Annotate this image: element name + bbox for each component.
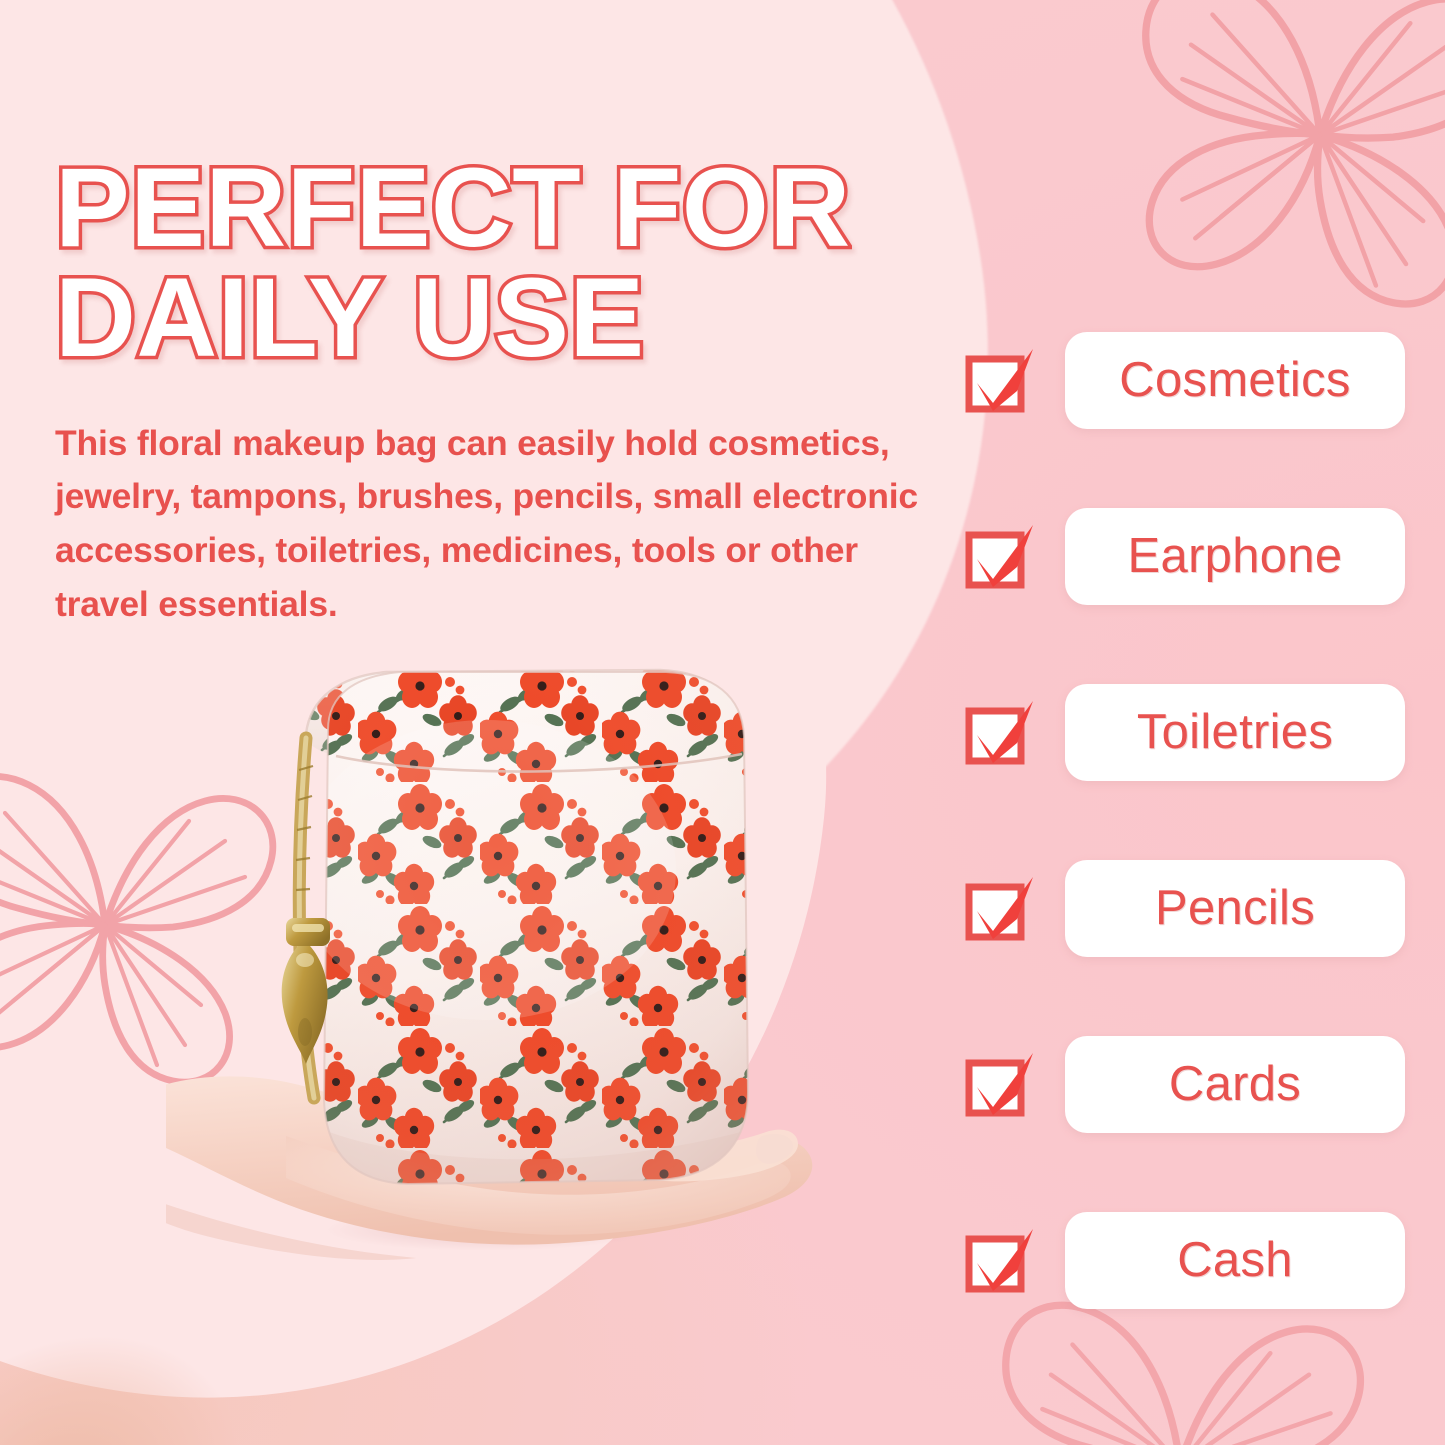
list-item[interactable]: Toiletries xyxy=(965,682,1405,782)
feature-pill[interactable]: Cards xyxy=(1065,1036,1405,1133)
headline-line-2: DAILY USE xyxy=(55,263,1015,373)
feature-label: Earphone xyxy=(1128,528,1343,584)
feature-pill[interactable]: Pencils xyxy=(1065,860,1405,957)
feature-pill[interactable]: Cash xyxy=(1065,1212,1405,1309)
feature-label: Pencils xyxy=(1155,880,1315,936)
list-item[interactable]: Pencils xyxy=(965,858,1405,958)
feature-label: Cards xyxy=(1169,1056,1301,1112)
body-paragraph: This floral makeup bag can easily hold c… xyxy=(55,417,960,633)
feature-pill[interactable]: Cosmetics xyxy=(1065,332,1405,429)
page-title: PERFECT FOR DAILY USE xyxy=(55,153,1015,373)
list-item[interactable]: Cosmetics xyxy=(965,330,1405,430)
bag-zipper xyxy=(282,738,330,1098)
checkbox-checked-icon[interactable] xyxy=(965,875,1037,941)
feature-label: Cosmetics xyxy=(1119,352,1350,408)
checkbox-checked-icon[interactable] xyxy=(965,1051,1037,1117)
feature-checklist: Cosmetics Earphone Toiletr xyxy=(965,330,1405,1310)
feature-label: Cash xyxy=(1177,1232,1293,1288)
feature-pill[interactable]: Toiletries xyxy=(1065,684,1405,781)
list-item[interactable]: Cash xyxy=(965,1210,1405,1310)
product-image xyxy=(196,660,836,1360)
makeup-bag xyxy=(236,660,796,1260)
list-item[interactable]: Earphone xyxy=(965,506,1405,606)
feature-pill[interactable]: Earphone xyxy=(1065,508,1405,605)
headline-line-1: PERFECT FOR xyxy=(55,145,851,270)
checkbox-checked-icon[interactable] xyxy=(965,699,1037,765)
product-infographic: PERFECT FOR DAILY USE This floral makeup… xyxy=(0,0,1445,1445)
list-item[interactable]: Cards xyxy=(965,1034,1405,1134)
bag-body xyxy=(296,660,796,1220)
checkbox-checked-icon[interactable] xyxy=(965,523,1037,589)
checkbox-checked-icon[interactable] xyxy=(965,1227,1037,1293)
feature-label: Toiletries xyxy=(1137,704,1333,760)
checkbox-checked-icon[interactable] xyxy=(965,347,1037,413)
